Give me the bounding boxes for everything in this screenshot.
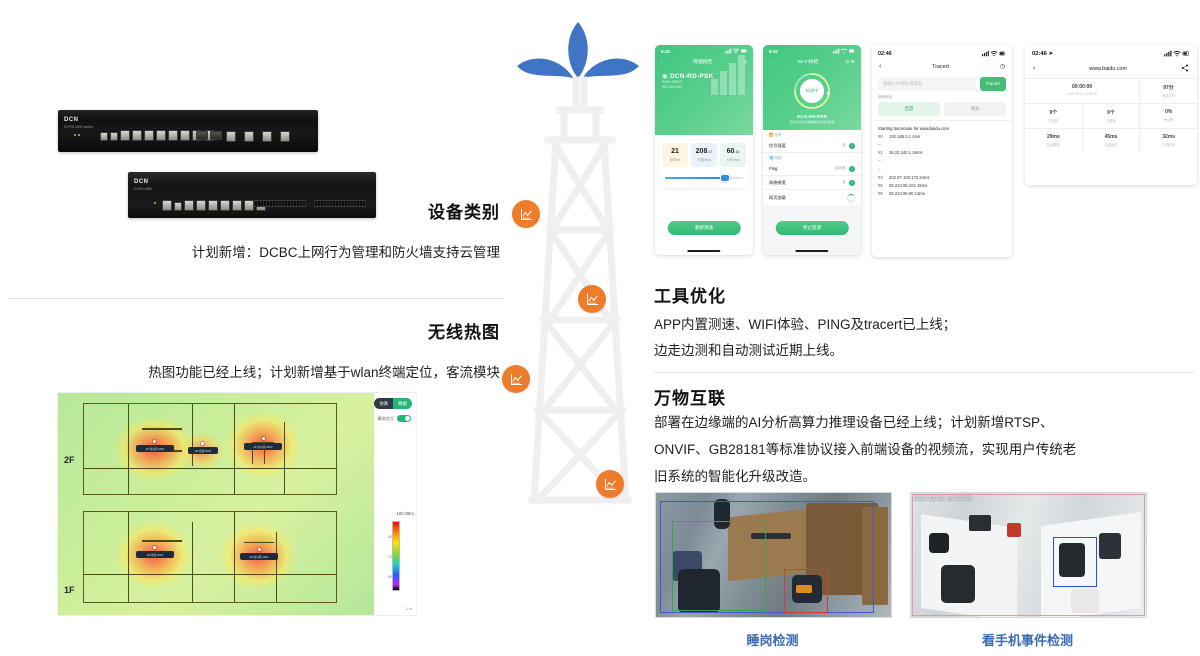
status-time-location: 02:46 ➤ bbox=[1032, 51, 1053, 57]
metrics-row-2: 29ms 往返最短 45ms 往返最长 32ms 平均时长 bbox=[1025, 129, 1197, 152]
metrics-row-1: 9个 已发送 9个 已接收 0% 丢包率 bbox=[1025, 104, 1197, 129]
metric-loss: 0% 丢包率 bbox=[1140, 104, 1197, 129]
chart-icon bbox=[585, 292, 600, 307]
wireless-section-title: 无线热图 bbox=[428, 318, 500, 343]
quick-address-label: 常用地址 bbox=[872, 94, 1012, 102]
cctv-caption-2: 看手机事件检测 bbox=[910, 630, 1145, 649]
detection-box bbox=[672, 521, 766, 611]
signal-petals bbox=[516, 22, 639, 86]
status-bar: 02:46 bbox=[872, 45, 1012, 59]
port-group-rear bbox=[226, 131, 290, 142]
url-label: www.baidu.com bbox=[1089, 66, 1127, 72]
summary-row: 00:00:09 2023-09-21 14:26:09 97分 总体评分 bbox=[1025, 78, 1197, 104]
stop-test-button[interactable]: 停止检测 bbox=[776, 221, 849, 235]
nav-bar: ‹ Tracert ◷ bbox=[872, 59, 1012, 74]
heatmap-mode-sim[interactable]: 仿真 bbox=[374, 398, 393, 409]
wireless-section-desc: 热图功能已经上线；计划新增基于wlan终端定位，客流模块 bbox=[0, 360, 500, 386]
nav-title: Wi-Fi体检 bbox=[798, 58, 819, 65]
simulated-signal-row[interactable]: 模拟信号 bbox=[377, 415, 411, 422]
log-row: #0192.168.0.1 4ms bbox=[872, 132, 1012, 140]
dial-text: 检测中 bbox=[792, 71, 832, 111]
back-icon[interactable]: ‹ bbox=[879, 63, 881, 70]
tracert-input[interactable]: 请输入IP地址或域名 bbox=[878, 77, 976, 91]
port-group-left bbox=[100, 132, 118, 141]
row-value: 优 bbox=[842, 143, 846, 148]
location-arrow-icon: ➤ bbox=[1048, 51, 1053, 57]
nav-title: Tracert bbox=[932, 64, 949, 70]
loading-spinner-icon bbox=[847, 194, 855, 202]
heatmap-scale-label: 1 m bbox=[406, 607, 412, 611]
home-indicator bbox=[687, 250, 720, 252]
cctv-phone-detection: 2020/12/18 16:30:05 bbox=[910, 492, 1147, 618]
cctv-scene bbox=[656, 493, 891, 617]
log-row: -- bbox=[872, 157, 1012, 165]
retest-button[interactable]: 重新测速 bbox=[668, 221, 741, 235]
home-indicator bbox=[795, 250, 828, 252]
log-row: #558.213.95.102 16ms bbox=[872, 181, 1012, 189]
stat-latency: 21 延时ms bbox=[662, 143, 688, 167]
status-time: 9:41 bbox=[769, 49, 778, 54]
chart-icon bbox=[603, 477, 618, 492]
scan-dial: 检测中 bbox=[792, 71, 832, 111]
row-value: 优 bbox=[842, 180, 846, 185]
history-icon[interactable]: ◷ bbox=[1000, 63, 1005, 70]
dcn-logo-2: DCN bbox=[134, 179, 149, 185]
wifi-exam-header: 9:41 ‹ Wi-Fi体检 ◷ ⚙ bbox=[763, 45, 861, 130]
status-bar: 02:46 ➤ bbox=[1025, 45, 1197, 59]
summary-duration: 00:00:09 2023-09-21 14:26:09 bbox=[1025, 79, 1140, 104]
chart-icon bbox=[519, 207, 534, 222]
iot-section-p2: ONVIF、GB28181等标准协议接入前端设备的视频流，实现用户传统老 bbox=[654, 437, 1076, 463]
phone-tracert: 02:46 ‹ Tracert ◷ bbox=[872, 45, 1012, 257]
device-photo-firewall: DCN DCFW-1800 series bbox=[58, 110, 318, 152]
cctv-scene: 2020/12/18 16:30:05 bbox=[911, 493, 1146, 617]
port-group-switch bbox=[162, 200, 266, 211]
stats-row: 21 延时ms 208.17 下载Mbps 60.14 上传Mbps bbox=[662, 143, 746, 167]
device-photo-switch: DCN DCRS-5960 bbox=[128, 172, 376, 218]
network-icon: 🌐 bbox=[769, 156, 773, 160]
ssid-block: ◉ DCN-RD-PSK 5GHz 78/213 802.11AC/AX bbox=[655, 67, 753, 90]
port-group-sfp bbox=[196, 131, 222, 140]
tag-gateway[interactable]: 网关 bbox=[944, 102, 1006, 116]
log-row: #658.213.95.90 13ms bbox=[872, 190, 1012, 198]
ap-marker[interactable]: AP-前台-1F01 bbox=[136, 551, 174, 558]
share-icon[interactable] bbox=[1181, 64, 1189, 73]
ssid-block: DCN-RD-PSK 正在对当前无线网络环境进行检测 bbox=[763, 115, 861, 124]
wireless-heatmap-screenshot: AP-会议室-2F01 AP-走廊-2F02 AP-办公区-2F03 2F bbox=[57, 392, 417, 616]
status-bar: 9:41 bbox=[763, 45, 861, 56]
phone-web-report: 02:46 ➤ ‹ www.baidu. bbox=[1025, 45, 1197, 185]
signal-wifi-battery-icon bbox=[833, 48, 855, 54]
tool-section-p1: APP内置测速、WIFI体验、PING及tracert已上线； bbox=[654, 312, 956, 338]
status-icons bbox=[833, 48, 855, 55]
row-label: 网络带宽 bbox=[769, 180, 786, 186]
device-section-title: 设备类别 bbox=[428, 198, 500, 223]
signal-wifi-battery-icon bbox=[982, 50, 1006, 57]
check-icon: ✓ bbox=[849, 180, 855, 186]
row-bandwidth[interactable]: 网络带宽 优 ✓ bbox=[763, 176, 861, 190]
heatmap-mode-toggle[interactable]: 仿真 数据 bbox=[374, 398, 412, 409]
row-value: 延迟低 bbox=[835, 166, 846, 171]
right-section-divider bbox=[654, 372, 1194, 373]
device-section-desc: 计划新增：DCBC上网行为管理和防火墙支持云管理 bbox=[0, 240, 500, 266]
row-label: 信号强度 bbox=[769, 143, 786, 149]
floorplan-1f bbox=[83, 511, 337, 603]
signal-wifi-battery-icon bbox=[725, 48, 747, 54]
phone-wifi-exam: 9:41 ‹ Wi-Fi体检 ◷ ⚙ bbox=[763, 45, 861, 255]
tool-section-title: 工具优化 bbox=[654, 282, 726, 307]
legend-tick: -90 bbox=[387, 575, 392, 579]
speedtest-header: 9:41 ‹ 网速报告 ◷ bbox=[655, 45, 753, 135]
dcn-logo: DCN bbox=[64, 117, 79, 123]
ap-marker[interactable]: AP-会议室-2F01 bbox=[136, 445, 174, 452]
log-row: -- bbox=[872, 140, 1012, 148]
left-column: DCN DCFW-1800 series DCN DCRS-5960 bbox=[0, 0, 520, 656]
iot-section-p1: 部署在边缘端的AI分析高算力推理设备已经上线；计划新增RTSP、 bbox=[654, 410, 1054, 436]
group-title-network: 🌐 网络 bbox=[763, 153, 861, 162]
dcn-model-2: DCRS-5960 bbox=[134, 187, 152, 191]
iot-section-p3: 旧系统的智能化升级改造。 bbox=[654, 464, 816, 490]
heatmap-mode-data[interactable]: 数据 bbox=[393, 398, 412, 409]
metric-sent: 9个 已发送 bbox=[1025, 104, 1083, 129]
metric-min: 29ms 往返最短 bbox=[1025, 129, 1083, 152]
legend-tick: -50 bbox=[387, 535, 392, 539]
quick-tags: 百度 网关 bbox=[872, 102, 1012, 120]
tool-section-p2: 边走边测和自动测试近期上线。 bbox=[654, 338, 843, 364]
tower-graphic bbox=[498, 0, 658, 520]
right-column: 9:41 ‹ 网速报告 ◷ bbox=[650, 0, 1200, 656]
nav-actions[interactable]: ◷ ⚙ bbox=[846, 59, 855, 65]
bar-chart-decoration-icon bbox=[709, 55, 751, 95]
detection-box bbox=[912, 494, 1145, 616]
status-icons bbox=[982, 50, 1006, 58]
floor-label-2f: 2F bbox=[64, 455, 75, 465]
ap-marker[interactable]: AP-办公区-2F03 bbox=[244, 443, 282, 450]
back-icon[interactable]: ‹ bbox=[1033, 65, 1035, 72]
tracert-input-row: 请输入IP地址或域名 Tracert bbox=[872, 74, 1012, 94]
ssid-sub: 正在对当前无线网络环境进行检测 bbox=[763, 120, 861, 124]
legend-tick: -70 bbox=[387, 555, 392, 559]
heatmap-colorbar bbox=[392, 521, 400, 591]
simulated-signal-toggle[interactable] bbox=[397, 415, 411, 422]
log-row: #136.22.240.1 26ms bbox=[872, 149, 1012, 157]
summary-score: 97分 总体评分 bbox=[1140, 79, 1197, 104]
metric-received: 9个 已接收 bbox=[1083, 104, 1141, 129]
metric-avg: 32ms 平均时长 bbox=[1140, 129, 1197, 152]
tower-svg bbox=[498, 0, 658, 520]
row-label: Ping bbox=[769, 166, 777, 171]
slider-thumb[interactable] bbox=[720, 174, 730, 182]
log-header: Starting traceroute for www.baidu.com bbox=[872, 124, 1012, 132]
row-signal-strength[interactable]: 信号强度 优 ✓ bbox=[763, 139, 861, 153]
status-icons bbox=[725, 48, 747, 55]
row-ping[interactable]: Ping 延迟低 ✓ bbox=[763, 162, 861, 176]
row-label: 网页加载 bbox=[769, 195, 786, 201]
heatmap-sidebar: 仿真 数据 模拟信号 -100 dBm -50 -70 -90 1 m bbox=[374, 393, 416, 615]
tracert-button[interactable]: Tracert bbox=[980, 77, 1006, 91]
tower-marker-chart-icon-4[interactable] bbox=[596, 470, 624, 498]
nav-bar: ‹ Wi-Fi体检 ◷ ⚙ bbox=[763, 56, 861, 67]
group-title-signal: 📶 信号 bbox=[763, 130, 861, 139]
ap-marker[interactable]: AP-走廊-2F02 bbox=[188, 447, 218, 454]
nav-bar: ‹ www.baidu.com bbox=[1025, 59, 1197, 78]
cctv-caption-1: 睡岗检测 bbox=[655, 630, 890, 649]
tower-marker-chart-icon-2[interactable] bbox=[578, 285, 606, 313]
iot-section-title: 万物互联 bbox=[654, 384, 726, 409]
log-row: #4202.97.100.173 34ms bbox=[872, 173, 1012, 181]
tracert-log: Starting traceroute for www.baidu.com #0… bbox=[872, 120, 1012, 198]
legend-max-label: -100 dBm bbox=[395, 511, 414, 516]
wifi-badge-icon: ◉ bbox=[662, 73, 668, 80]
cctv-sleep-detection bbox=[655, 492, 892, 618]
status-time: 02:46 bbox=[878, 51, 892, 57]
tower-marker-chart-icon-3[interactable] bbox=[502, 365, 530, 393]
stat-download: 208.17 下载Mbps bbox=[691, 143, 717, 167]
row-page-load[interactable]: 网页加载 bbox=[763, 190, 861, 206]
ap-marker[interactable]: AP-办公区-1F02 bbox=[240, 553, 278, 560]
speedtest-stats-card: 21 延时ms 208.17 下载Mbps 60.14 上传Mbps bbox=[659, 140, 749, 188]
simulated-signal-label: 模拟信号 bbox=[377, 416, 394, 422]
phone-speedtest: 9:41 ‹ 网速报告 ◷ bbox=[655, 45, 753, 255]
signal-icon: 📶 bbox=[769, 133, 773, 137]
status-icons bbox=[1164, 50, 1190, 58]
left-section-divider bbox=[8, 298, 504, 299]
tag-baidu[interactable]: 百度 bbox=[878, 102, 940, 116]
floor-label-1f: 1F bbox=[64, 585, 75, 595]
chart-icon bbox=[509, 372, 524, 387]
check-icon: ✓ bbox=[849, 166, 855, 172]
heatmap-canvas: AP-会议室-2F01 AP-走廊-2F02 AP-办公区-2F03 2F bbox=[58, 393, 374, 615]
back-icon[interactable]: ‹ bbox=[769, 59, 771, 64]
stat-upload: 60.14 上传Mbps bbox=[720, 143, 746, 167]
check-icon: ✓ bbox=[849, 143, 855, 149]
signal-wifi-battery-icon bbox=[1164, 50, 1190, 57]
cctv-timestamp: 2020/12/18 16:30:05 bbox=[914, 496, 971, 502]
tower-marker-chart-icon-1[interactable] bbox=[512, 200, 540, 228]
detection-box bbox=[784, 569, 828, 613]
back-icon[interactable]: ‹ bbox=[661, 59, 663, 64]
dcn-model: DCFW-1800 series bbox=[64, 125, 93, 129]
log-row: -- bbox=[872, 165, 1012, 173]
slide-canvas: DCN DCFW-1800 series DCN DCRS-5960 bbox=[0, 0, 1200, 656]
metric-max: 45ms 往返最长 bbox=[1083, 129, 1141, 152]
status-time: 9:41 bbox=[661, 49, 670, 54]
speed-slider[interactable] bbox=[665, 173, 743, 183]
